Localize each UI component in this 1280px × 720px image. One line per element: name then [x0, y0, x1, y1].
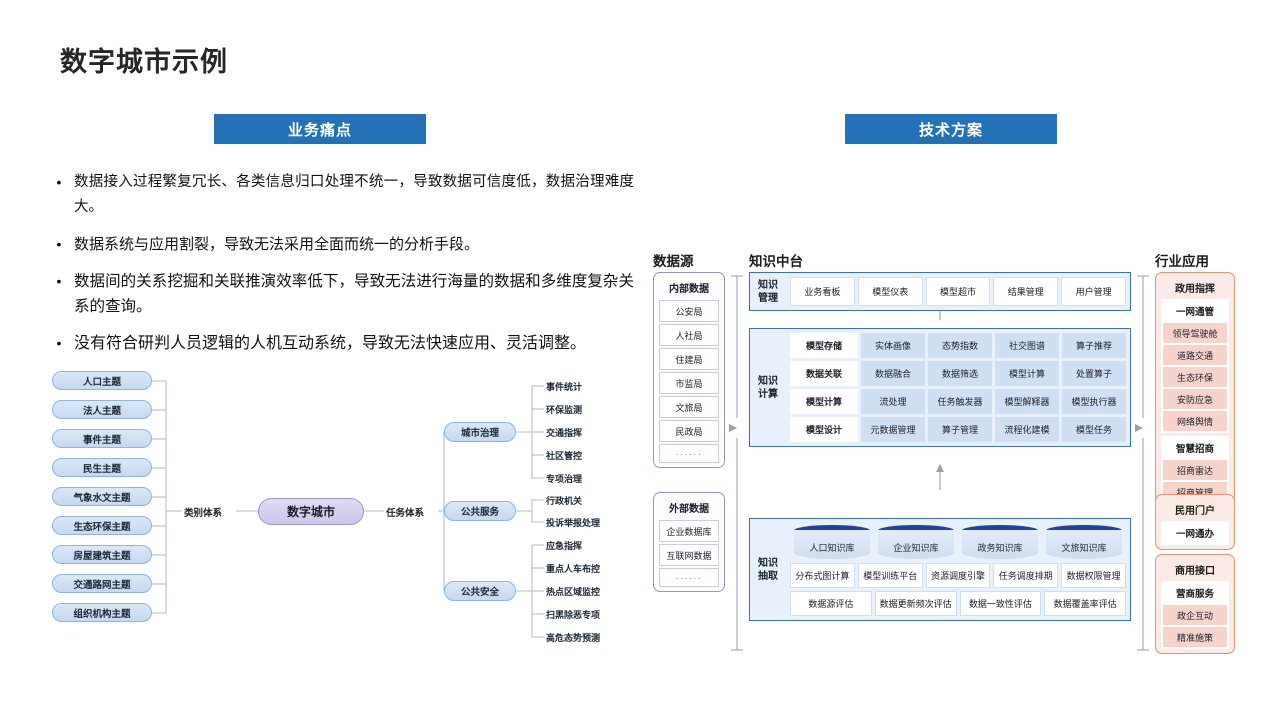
mindmap-leaf: 投诉举报处理: [546, 516, 600, 529]
industry-app-title: 民用门户: [1161, 499, 1229, 521]
kp-cell[interactable]: 模型执行器: [1062, 389, 1126, 414]
kp-row: 模型计算 流处理 任务触发器 模型解释器 模型执行器: [790, 389, 1126, 414]
mindmap-leaf: 热点区域监控: [546, 585, 600, 598]
kp-label-line1: 知识: [758, 376, 778, 387]
kp-cell[interactable]: 模型仪表: [858, 277, 923, 306]
knowledge-extract-block: 知识 抽取 人口知识库 企业知识库 政务知识库: [749, 518, 1131, 621]
mindmap-leaf: 事件统计: [546, 380, 582, 393]
kp-row-lead: 数据关联: [790, 361, 858, 386]
mindmap-theme-pill[interactable]: 房屋建筑主题: [52, 545, 152, 564]
kp-cell[interactable]: 算子管理: [928, 417, 992, 442]
datasource-item[interactable]: 人社局: [659, 324, 719, 346]
kp-cell[interactable]: 分布式图计算: [790, 563, 855, 588]
list-item: • 数据间的关系挖掘和关联推演效率低下，导致无法进行海量的数据和多维度复杂关系的…: [44, 269, 634, 319]
bullet-icon: •: [44, 269, 74, 319]
kp-cell[interactable]: 数据融合: [861, 361, 925, 386]
mindmap-leaf: 交通指挥: [546, 426, 582, 439]
bullet-icon: •: [44, 170, 74, 220]
list-item: • 没有符合研判人员逻辑的人机互动系统，导致无法快速应用、灵活调整。: [44, 331, 634, 356]
datasource-item-more: ······: [659, 568, 719, 587]
pain-point-text: 数据系统与应用割裂，导致无法采用全面而统一的分析手段。: [74, 232, 634, 257]
kp-row: 模型存储 实体画像 态势指数 社交图谱 算子推荐: [790, 333, 1126, 358]
database-cylinder-icon[interactable]: 人口知识库: [794, 525, 870, 559]
kp-cell[interactable]: 模型训练平台: [858, 563, 923, 588]
list-item: • 数据接入过程繁复冗长、各类信息归口处理不统一，导致数据可信度低，数据治理难度…: [44, 170, 634, 220]
mindmap-task-pill[interactable]: 城市治理: [444, 422, 516, 442]
mindmap-theme-pill[interactable]: 组织机构主题: [52, 603, 152, 622]
mindmap-theme-pill[interactable]: 人口主题: [52, 371, 152, 390]
kp-cell[interactable]: 数据筛选: [928, 361, 992, 386]
mindmap-theme-pill[interactable]: 交通路网主题: [52, 574, 152, 593]
industry-app-gov-box: 政用指挥 一网通管 领导驾驶舱 道路交通 生态环保 安防应急 网络舆情 智慧招商…: [1155, 272, 1235, 509]
kp-label-line1: 知识: [758, 280, 778, 291]
section-header-tech-solution: 技术方案: [845, 114, 1057, 144]
industry-app-item[interactable]: 领导驾驶舱: [1163, 323, 1227, 343]
mindmap-theme-pill[interactable]: 法人主题: [52, 400, 152, 419]
kp-row: 分布式图计算 模型训练平台 资源调度引擎 任务调度排期 数据权限管理: [790, 563, 1126, 588]
mindmap-center-node[interactable]: 数字城市: [258, 498, 364, 525]
kp-cell[interactable]: 数据更新频次评估: [875, 591, 957, 616]
knowledge-compute-body: 模型存储 实体画像 态势指数 社交图谱 算子推荐 数据关联 数据融合 数据筛选 …: [786, 329, 1130, 446]
kp-cell[interactable]: 模型解释器: [995, 389, 1059, 414]
database-cylinder-icon[interactable]: 企业知识库: [878, 525, 954, 559]
datasource-item[interactable]: 文旅局: [659, 396, 719, 418]
knowledge-management-body: 业务看板 模型仪表 模型超市 结果管理 用户管理: [786, 273, 1130, 310]
datasource-item[interactable]: 企业数据库: [659, 520, 719, 542]
industry-app-item[interactable]: 政企互动: [1163, 605, 1227, 625]
kp-row: 数据源评估 数据更新频次评估 数据一致性评估 数据覆盖率评估: [790, 591, 1126, 616]
mindmap-theme-pill[interactable]: 事件主题: [52, 429, 152, 448]
kp-cell[interactable]: 算子推荐: [1062, 333, 1126, 358]
mindmap-leaf: 社区管控: [546, 449, 582, 462]
datasource-item[interactable]: 互联网数据: [659, 544, 719, 566]
pain-point-text: 没有符合研判人员逻辑的人机互动系统，导致无法快速应用、灵活调整。: [74, 331, 634, 356]
bullet-icon: •: [44, 232, 74, 257]
kp-cell[interactable]: 流程化建模: [995, 417, 1059, 442]
datasource-external-title: 外部数据: [659, 497, 719, 520]
architecture-diagram: 数据源 知识中台 行业应用: [645, 250, 1245, 655]
kp-cell[interactable]: 数据权限管理: [1061, 563, 1126, 588]
kp-cell[interactable]: 用户管理: [1061, 277, 1126, 306]
datasource-item[interactable]: 住建局: [659, 348, 719, 370]
kp-label-line2: 抽取: [758, 571, 778, 582]
kp-cell[interactable]: 数据源评估: [790, 591, 872, 616]
page-title: 数字城市示例: [60, 40, 228, 79]
kp-row-lead: 模型设计: [790, 417, 858, 442]
mindmap-leaf: 行政机关: [546, 494, 582, 507]
industry-app-subtitle: 一网通管: [1163, 301, 1227, 321]
kp-label-line1: 知识: [758, 558, 778, 569]
mindmap-leaf: 高危态势预测: [546, 631, 600, 644]
industry-app-item[interactable]: 招商雷达: [1163, 460, 1227, 480]
list-item: • 数据系统与应用割裂，导致无法采用全面而统一的分析手段。: [44, 232, 634, 257]
kp-cell[interactable]: 元数据管理: [861, 417, 925, 442]
mindmap-leaf: 应急指挥: [546, 539, 582, 552]
industry-app-title: 政用指挥: [1161, 277, 1229, 299]
knowledge-management-label: 知识 管理: [750, 273, 786, 310]
kp-row: 数据关联 数据融合 数据筛选 模型计算 处置算子: [790, 361, 1126, 386]
kp-cell[interactable]: 数据一致性评估: [960, 591, 1042, 616]
kp-cell[interactable]: 结果管理: [993, 277, 1058, 306]
mindmap-task-pill[interactable]: 公共服务: [444, 501, 516, 521]
kp-row: 业务看板 模型仪表 模型超市 结果管理 用户管理: [790, 277, 1126, 306]
kp-cell[interactable]: 模型任务: [1062, 417, 1126, 442]
industry-app-group: 营商服务 政企互动 精准施策: [1161, 581, 1229, 649]
kp-cell[interactable]: 任务触发器: [928, 389, 992, 414]
section-header-pain-points: 业务痛点: [214, 114, 426, 144]
knowledge-base-cylinders: 人口知识库 企业知识库 政务知识库 文旅知识库: [790, 523, 1126, 563]
industry-app-item[interactable]: 道路交通: [1163, 345, 1227, 365]
kp-row-lead: 模型计算: [790, 389, 858, 414]
industry-app-subtitle: 营商服务: [1163, 583, 1227, 603]
mindmap-leaf: 重点人车布控: [546, 562, 600, 575]
industry-app-group: 一网通管 领导驾驶舱 道路交通 生态环保 安防应急 网络舆情: [1161, 299, 1229, 433]
kp-cell[interactable]: 处置算子: [1062, 361, 1126, 386]
datasource-item-more: ······: [659, 444, 719, 463]
kp-cell[interactable]: 任务调度排期: [993, 563, 1058, 588]
kp-row-lead: 模型存储: [790, 333, 858, 358]
database-cylinder-icon[interactable]: 政务知识库: [962, 525, 1038, 559]
database-cylinder-icon[interactable]: 文旅知识库: [1046, 525, 1122, 559]
pain-point-text: 数据接入过程繁复冗长、各类信息归口处理不统一，导致数据可信度低，数据治理难度大。: [74, 170, 634, 220]
cylinder-label: 政务知识库: [962, 530, 1038, 559]
knowledge-extract-label: 知识 抽取: [750, 519, 786, 620]
kp-cell[interactable]: 模型超市: [926, 277, 991, 306]
industry-app-civil-box: 民用门户 一网通办: [1155, 494, 1235, 550]
kp-label-line2: 管理: [758, 293, 778, 304]
datasource-item[interactable]: 市监局: [659, 372, 719, 394]
slide-canvas: 数字城市示例 业务痛点 技术方案 • 数据接入过程繁复冗长、各类信息归口处理不统…: [0, 0, 1280, 720]
cylinder-label: 文旅知识库: [1046, 530, 1122, 559]
knowledge-extract-body: 人口知识库 企业知识库 政务知识库 文旅知识库: [786, 519, 1130, 620]
mindmap-theme-pill[interactable]: 民生主题: [52, 458, 152, 477]
kp-cell[interactable]: 态势指数: [928, 333, 992, 358]
kp-cell[interactable]: 社交图谱: [995, 333, 1059, 358]
mindmap-theme-pill[interactable]: 生态环保主题: [52, 516, 152, 535]
mindmap-theme-pill[interactable]: 气象水文主题: [52, 487, 152, 506]
industry-app-item[interactable]: 一网通办: [1161, 521, 1229, 545]
kp-cell[interactable]: 实体画像: [861, 333, 925, 358]
pain-points-list: • 数据接入过程繁复冗长、各类信息归口处理不统一，导致数据可信度低，数据治理难度…: [44, 170, 634, 368]
mindmap-leaf: 环保监测: [546, 403, 582, 416]
industry-app-item[interactable]: 精准施策: [1163, 627, 1227, 647]
cylinder-label: 企业知识库: [878, 530, 954, 559]
kp-row: 模型设计 元数据管理 算子管理 流程化建模 模型任务: [790, 417, 1126, 442]
industry-app-item[interactable]: 生态环保: [1163, 367, 1227, 387]
knowledge-compute-block: 知识 计算 模型存储 实体画像 态势指数 社交图谱 算子推荐 数据关联 数据融合…: [749, 328, 1131, 447]
mindmap-branch-label-category: 类别体系: [184, 505, 222, 519]
mindmap-leaf: 专项治理: [546, 472, 582, 485]
industry-app-subtitle: 智慧招商: [1163, 438, 1227, 458]
industry-app-item[interactable]: 安防应急: [1163, 389, 1227, 409]
knowledge-compute-label: 知识 计算: [750, 329, 786, 446]
industry-app-title: 商用接口: [1161, 559, 1229, 581]
datasource-internal-box: 内部数据 公安局 人社局 住建局 市监局 文旅局 民政局 ······: [653, 272, 725, 468]
datasource-item[interactable]: 民政局: [659, 420, 719, 442]
mindmap-diagram: 人口主题 法人主题 事件主题 民生主题 气象水文主题 生态环保主题 房屋建筑主题…: [40, 370, 640, 655]
kp-cell[interactable]: 模型计算: [995, 361, 1059, 386]
kp-cell[interactable]: 流处理: [861, 389, 925, 414]
mindmap-leaf: 扫黑除恶专项: [546, 608, 600, 621]
kp-cell[interactable]: 数据覆盖率评估: [1044, 591, 1126, 616]
kp-label-line2: 计算: [758, 389, 778, 400]
kp-cell[interactable]: 业务看板: [790, 277, 855, 306]
industry-app-business-box: 商用接口 营商服务 政企互动 精准施策: [1155, 554, 1235, 654]
datasource-internal-title: 内部数据: [659, 277, 719, 300]
industry-app-item[interactable]: 网络舆情: [1163, 411, 1227, 431]
knowledge-management-block: 知识 管理 业务看板 模型仪表 模型超市 结果管理 用户管理: [749, 272, 1131, 311]
bullet-icon: •: [44, 331, 74, 356]
pain-point-text: 数据间的关系挖掘和关联推演效率低下，导致无法进行海量的数据和多维度复杂关系的查询…: [74, 269, 634, 319]
datasource-external-box: 外部数据 企业数据库 互联网数据 ······: [653, 492, 725, 592]
mindmap-task-pill[interactable]: 公共安全: [444, 581, 516, 601]
mindmap-branch-label-task: 任务体系: [386, 505, 424, 519]
cylinder-label: 人口知识库: [794, 530, 870, 559]
datasource-item[interactable]: 公安局: [659, 300, 719, 322]
kp-cell[interactable]: 资源调度引擎: [926, 563, 991, 588]
